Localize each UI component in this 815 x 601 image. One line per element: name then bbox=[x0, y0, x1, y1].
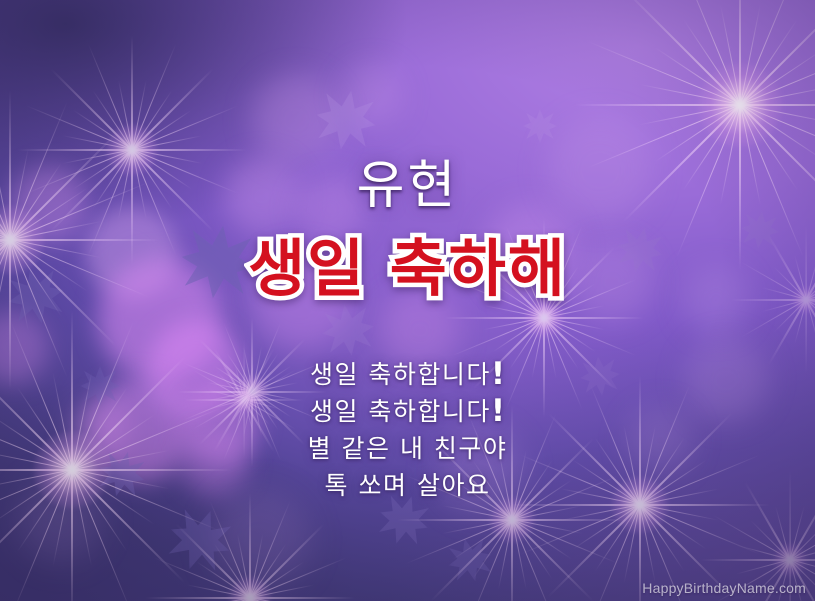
verse-line: 생일 축하합니다! bbox=[0, 356, 815, 393]
exclamation-mark: ! bbox=[491, 393, 505, 429]
watermark: HappyBirthdayName.com bbox=[642, 580, 806, 596]
verse-text: 생일 축하합니다!생일 축하합니다!별 같은 내 친구야톡 쏘며 살아요 bbox=[0, 356, 815, 504]
exclamation-mark: ! bbox=[491, 356, 505, 392]
verse-line: 생일 축하합니다! bbox=[0, 393, 815, 430]
recipient-name: 유현 bbox=[0, 160, 815, 212]
birthday-card: 유현 생일 축하해 생일 축하합니다!생일 축하합니다!별 같은 내 친구야톡 … bbox=[0, 0, 815, 601]
verse-line: 별 같은 내 친구야 bbox=[0, 430, 815, 467]
greeting-headline: 생일 축하해 bbox=[0, 238, 815, 300]
verse-line: 톡 쏘며 살아요 bbox=[0, 467, 815, 504]
